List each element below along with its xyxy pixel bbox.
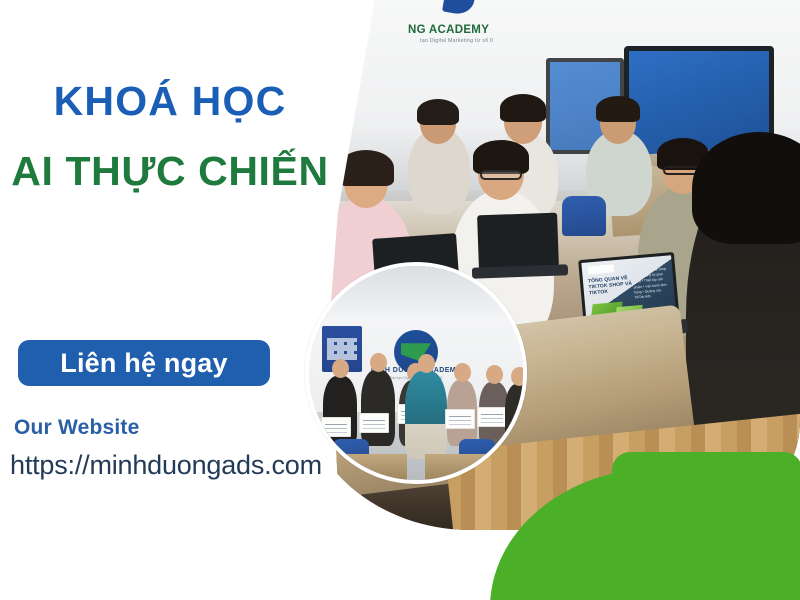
- graduation-photo-inset: MINH DUONG ACADEMY Đào tạo Digital Marke…: [305, 262, 527, 484]
- certificate-4: [445, 409, 475, 429]
- slide-logo-icon: [588, 264, 615, 274]
- slide-bullets: Giới thiệu TikTok Shop • Cách đăng ký gi…: [632, 267, 671, 301]
- wall-academy-logo: NG ACADEMY tạo Digital Marketing từ số 0: [408, 2, 576, 50]
- inset-desk-left: [309, 454, 407, 480]
- slide-title: TỔNG QUAN VỀ TIKTOK SHOP VÀ TIKTOK: [588, 274, 636, 296]
- student-front-left-hair: [338, 150, 394, 186]
- marketing-banner: NG ACADEMY tạo Digital Marketing từ số 0: [0, 0, 800, 600]
- graduate-6-head: [511, 367, 528, 386]
- headline-line-2: AI THỰC CHIẾN: [0, 148, 340, 194]
- graduate-4-head: [454, 363, 471, 382]
- contact-now-button[interactable]: Liên hệ ngay: [18, 340, 270, 386]
- inset-desk-right: [425, 454, 523, 480]
- graduate-center-presenter: [405, 371, 447, 459]
- academy-logo-name: NG ACADEMY: [408, 24, 576, 36]
- graduate-center-head: [418, 354, 435, 373]
- academy-logo-mark-icon: [442, 0, 476, 16]
- instructor-center-hair: [473, 140, 529, 174]
- instructor-glasses-icon: [480, 170, 522, 180]
- inset-ceiling: [309, 266, 523, 322]
- graduate-2: [361, 370, 395, 446]
- laptop-center-screen: [477, 213, 559, 270]
- graduate-1-head: [332, 359, 349, 378]
- graduate-5-head: [486, 365, 503, 384]
- certificate-1: [321, 417, 351, 437]
- our-website-label: Our Website: [14, 416, 140, 440]
- academy-logo-tagline: tạo Digital Marketing từ số 0: [420, 38, 588, 44]
- student-back-right-hair: [596, 96, 640, 122]
- student-back-left-hair: [417, 99, 459, 125]
- chair-blue-right: [562, 196, 606, 236]
- student-back-mid-hair: [500, 94, 546, 122]
- certificate-5: [477, 407, 507, 427]
- graduate-2-head: [370, 353, 387, 372]
- website-url[interactable]: https://minhduongads.com: [10, 450, 322, 481]
- headline-line-1: KHOÁ HỌC: [0, 78, 340, 124]
- certificate-2: [359, 413, 389, 433]
